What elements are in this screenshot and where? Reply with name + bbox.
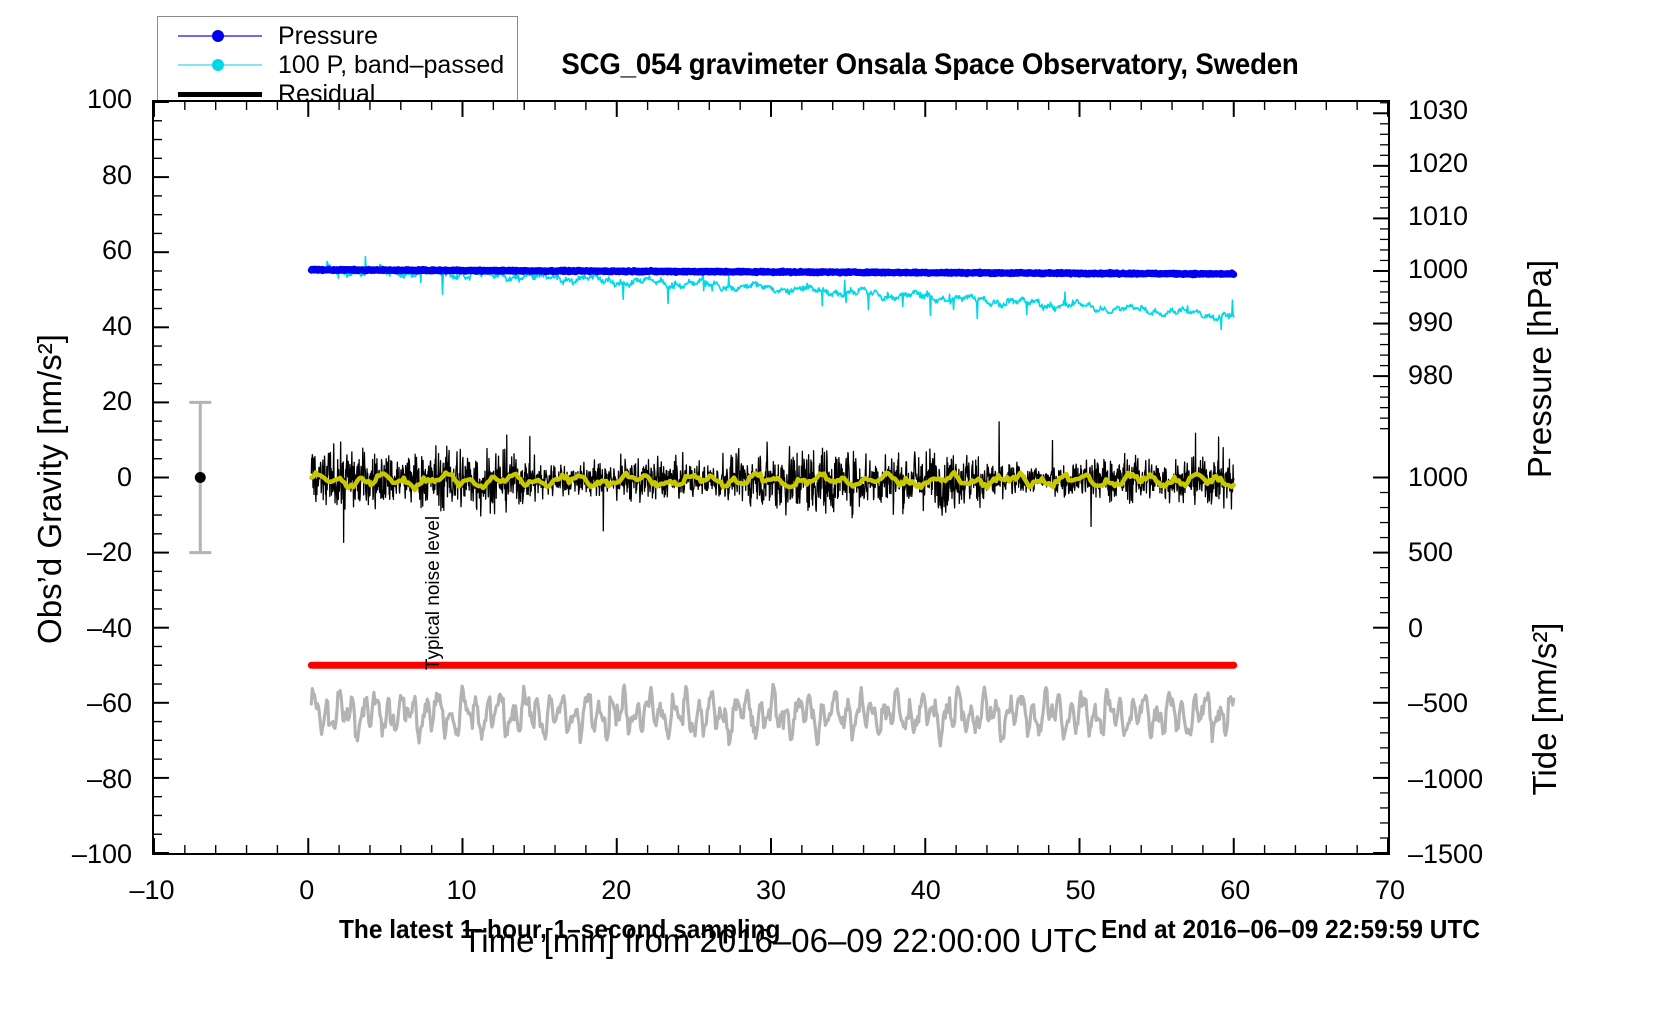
legend-swatch-pressure — [178, 26, 262, 46]
y-tick-label--100: –100 — [20, 841, 132, 868]
plot-area: Typical noise level The latest 1–hour, 1… — [152, 100, 1390, 855]
tide-tick-label-500: 500 — [1408, 539, 1518, 566]
y-tick-label--80: –80 — [20, 766, 132, 793]
legend-label-bandpassed: 100 P, band–passed — [278, 53, 504, 78]
pressure-tick-label-1000: 1000 — [1408, 256, 1508, 283]
y-tick-label--40: –40 — [20, 615, 132, 642]
tide-tick-label-1000: 1000 — [1408, 464, 1518, 491]
pressure-tick-label-1030: 1030 — [1408, 97, 1508, 124]
pressure-tick-label-1020: 1020 — [1408, 150, 1508, 177]
y-tick-label-60: 60 — [20, 237, 132, 264]
x-tick-label-10: 10 — [407, 877, 517, 904]
x-tick-label-70: 70 — [1335, 877, 1445, 904]
x-tick-label-60: 60 — [1180, 877, 1290, 904]
x-tick-label-50: 50 — [1026, 877, 1136, 904]
plot-canvas — [154, 102, 1388, 853]
legend-label-pressure: Pressure — [278, 24, 378, 49]
y-tick-label--20: –20 — [20, 539, 132, 566]
y-axis-title-tide: Tide [nm/s²] — [1526, 559, 1564, 859]
y-tick-label-80: 80 — [20, 162, 132, 189]
tide-tick-label-0: 0 — [1408, 615, 1518, 642]
typical-noise-level-label: Typical noise level — [423, 483, 445, 703]
tide-tick-label--1500: –1500 — [1408, 841, 1518, 868]
y-tick-label-40: 40 — [20, 313, 132, 340]
chart-title: SCG_054 gravimeter Onsala Space Observat… — [470, 48, 1390, 82]
tide-tick-label--1000: –1000 — [1408, 766, 1518, 793]
pressure-tick-label-990: 990 — [1408, 309, 1508, 336]
y-tick-label-20: 20 — [20, 388, 132, 415]
pressure-tick-label-1010: 1010 — [1408, 203, 1508, 230]
y-tick-label--60: –60 — [20, 690, 132, 717]
y-tick-label-100: 100 — [20, 86, 132, 113]
series-group — [311, 257, 1233, 746]
y-tick-label-0: 0 — [20, 464, 132, 491]
x-tick-label-0: 0 — [252, 877, 362, 904]
x-tick-label--10: –10 — [97, 877, 207, 904]
legend-item-pressure[interactable]: Pressure — [158, 22, 517, 50]
tide-tick-label--500: –500 — [1408, 690, 1518, 717]
x-axis-title: Time [min] from 2016–06–09 22:00:00 UTC — [330, 922, 1230, 960]
legend-swatch-bandpassed — [178, 55, 262, 75]
pressure-tick-label-980: 980 — [1408, 362, 1508, 389]
noise-level-annotation — [189, 402, 211, 552]
y-axis-title-pressure: Pressure [hPa] — [1521, 204, 1559, 534]
chart-page: SCG_054 gravimeter Onsala Space Observat… — [0, 0, 1660, 1020]
x-tick-label-30: 30 — [716, 877, 826, 904]
legend-item-bandpassed[interactable]: 100 P, band–passed — [158, 51, 517, 79]
x-tick-label-20: 20 — [561, 877, 671, 904]
x-tick-label-40: 40 — [871, 877, 981, 904]
